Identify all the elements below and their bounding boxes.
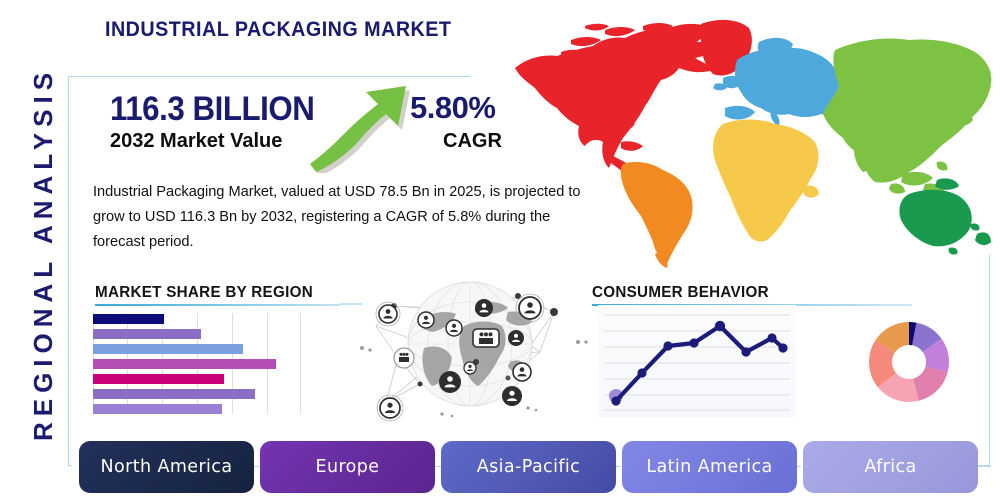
consumer-behavior-donut-chart [855, 308, 963, 416]
global-network-globe-icon [358, 266, 590, 424]
bar-row [93, 374, 224, 384]
globe-connector-line [340, 303, 362, 305]
region-pill-label: Latin America [646, 457, 772, 477]
section-title-market-share: MARKET SHARE BY REGION [95, 284, 313, 302]
region-pill-asia-pacific[interactable]: Asia-Pacific [441, 441, 616, 493]
region-pill-europe[interactable]: Europe [260, 441, 435, 493]
region-pill-latin-america[interactable]: Latin America [622, 441, 797, 493]
region-pill-label: North America [101, 457, 233, 477]
infographic-root: REGIONAL ANALYSIS INDUSTRIAL PACKAGING M… [0, 0, 1000, 500]
bar-row [93, 404, 222, 414]
region-pill-label: Asia-Pacific [477, 457, 580, 477]
section-title-consumer-behavior: CONSUMER BEHAVIOR [592, 284, 769, 302]
regional-analysis-side-label: REGIONAL ANALYSIS [21, 39, 65, 469]
cagr-caption: CAGR [443, 130, 502, 153]
cagr-number: 5.80% [410, 90, 495, 126]
bar-row [93, 389, 255, 399]
region-pill-label: Africa [864, 457, 916, 477]
consumer-behavior-line-chart [598, 305, 796, 417]
market-value-caption: 2032 Market Value [110, 130, 282, 153]
bar-row [93, 359, 276, 369]
region-pill-label: Europe [316, 457, 380, 477]
market-share-bar-chart [93, 313, 301, 414]
market-share-underline [95, 304, 340, 306]
region-pill-bar: North America Europe Asia-Pacific Latin … [79, 441, 994, 493]
region-pill-africa[interactable]: Africa [803, 441, 978, 493]
bar-row [93, 344, 243, 354]
growth-arrow-icon [302, 78, 412, 173]
market-value-number: 116.3 BILLION [110, 90, 314, 129]
page-title: INDUSTRIAL PACKAGING MARKET [105, 18, 451, 42]
region-pill-north-america[interactable]: North America [79, 441, 254, 493]
bar-row [93, 314, 164, 324]
bar-row [93, 329, 201, 339]
market-description: Industrial Packaging Market, valued at U… [93, 180, 593, 255]
